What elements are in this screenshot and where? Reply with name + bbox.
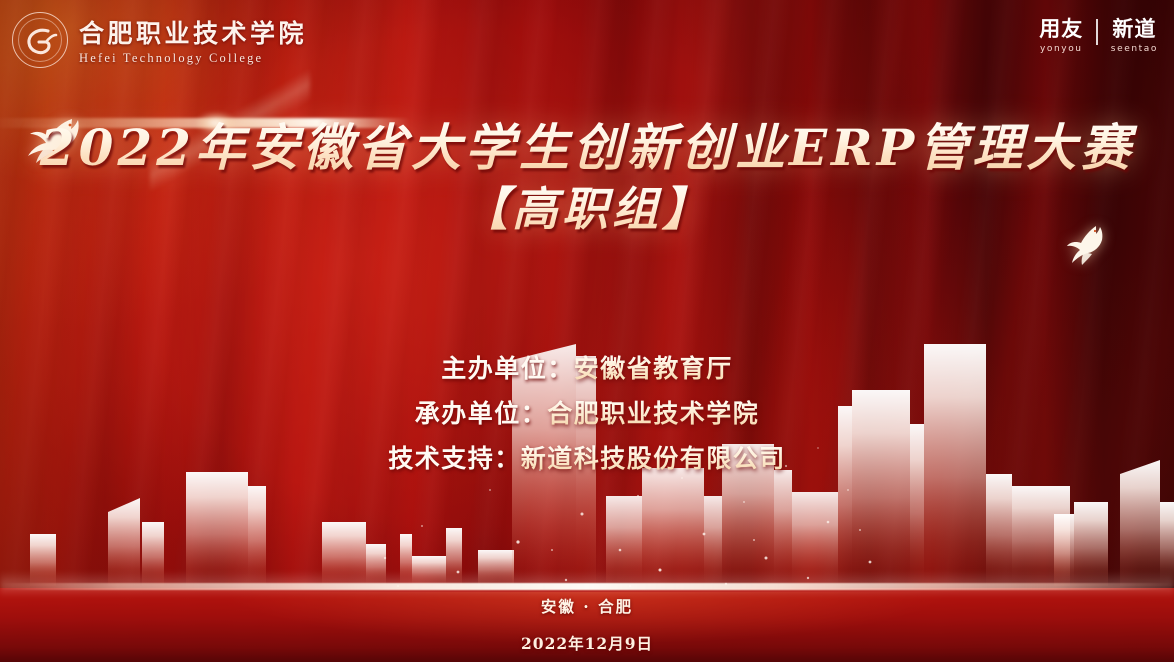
sponsor-yonyou-en: yonyou [1040,44,1083,54]
sponsor-logo-seentao: 新道 seentao [1111,18,1158,54]
college-name-cn: 合肥职业技术学院 [79,14,307,50]
organizer-value: 新道科技股份有限公司 [521,444,786,473]
organizer-row: 主办单位：安徽省教育厅 [0,346,1174,391]
page-title: 2022年安徽省大学生创新创业ERP管理大赛 [0,118,1174,177]
college-emblem-icon [12,12,68,68]
organizer-label: 主办单位： [441,354,574,383]
organizer-label: 承办单位： [415,399,548,428]
sponsor-seentao-en: seentao [1111,44,1158,54]
sponsor-seentao-cn: 新道 [1112,18,1156,40]
page-subtitle: 【高职组】 [0,181,1174,239]
organizer-value: 安徽省教育厅 [574,354,733,383]
sponsor-logo-group: 用友 yonyou 新道 seentao [1039,18,1158,54]
college-logo: 合肥职业技术学院 Hefei Technology College [12,12,307,68]
organizer-block: 主办单位：安徽省教育厅 承办单位：合肥职业技术学院 技术支持：新道科技股份有限公… [0,346,1174,481]
college-name-en: Hefei Technology College [79,51,307,66]
sponsor-logo-yonyou: 用友 yonyou [1039,18,1083,54]
poster-canvas: 合肥职业技术学院 Hefei Technology College 用友 yon… [0,0,1174,662]
title-block: 2022年安徽省大学生创新创业ERP管理大赛 【高职组】 [0,118,1174,239]
organizer-row: 技术支持：新道科技股份有限公司 [0,436,1174,481]
organizer-value: 合肥职业技术学院 [547,399,759,428]
sponsor-yonyou-cn: 用友 [1039,18,1083,40]
organizer-label: 技术支持： [388,444,521,473]
college-name-block: 合肥职业技术学院 Hefei Technology College [79,14,307,66]
event-location: 安徽 · 合肥 [0,596,1174,618]
divider-band [0,583,1174,590]
event-date: 2022年12月9日 [0,634,1174,654]
footer-block: 安徽 · 合肥 2022年12月9日 [0,596,1174,654]
organizer-row: 承办单位：合肥职业技术学院 [0,391,1174,436]
sponsor-logo-divider [1096,19,1098,45]
